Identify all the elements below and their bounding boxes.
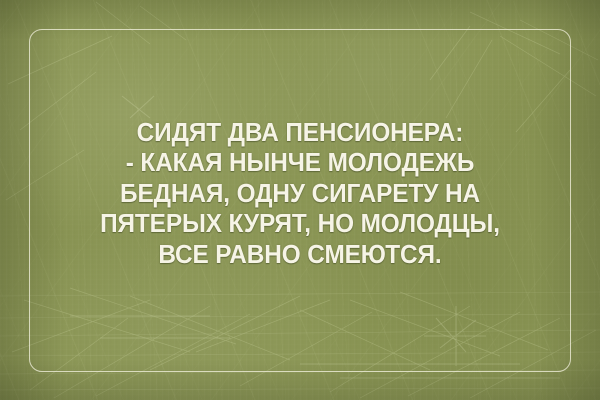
caption-line-3: БЕДНАЯ, ОДНУ СИГАРЕТУ НА	[14, 179, 587, 209]
caption-line-5: ВСЕ РАВНО СМЕЮТСЯ.	[14, 240, 587, 270]
caption-line-4: ПЯТЕРЫХ КУРЯТ, НО МОЛОДЦЫ,	[14, 209, 587, 239]
caption-line-2: - КАКАЯ НЫНЧЕ МОЛОДЕЖЬ	[14, 148, 587, 178]
caption-line-1: СИДЯТ ДВА ПЕНСИОНЕРА:	[14, 118, 587, 148]
joke-poster: СИДЯТ ДВА ПЕНСИОНЕРА: - КАКАЯ НЫНЧЕ МОЛО…	[0, 0, 600, 400]
joke-caption: СИДЯТ ДВА ПЕНСИОНЕРА: - КАКАЯ НЫНЧЕ МОЛО…	[0, 118, 600, 270]
